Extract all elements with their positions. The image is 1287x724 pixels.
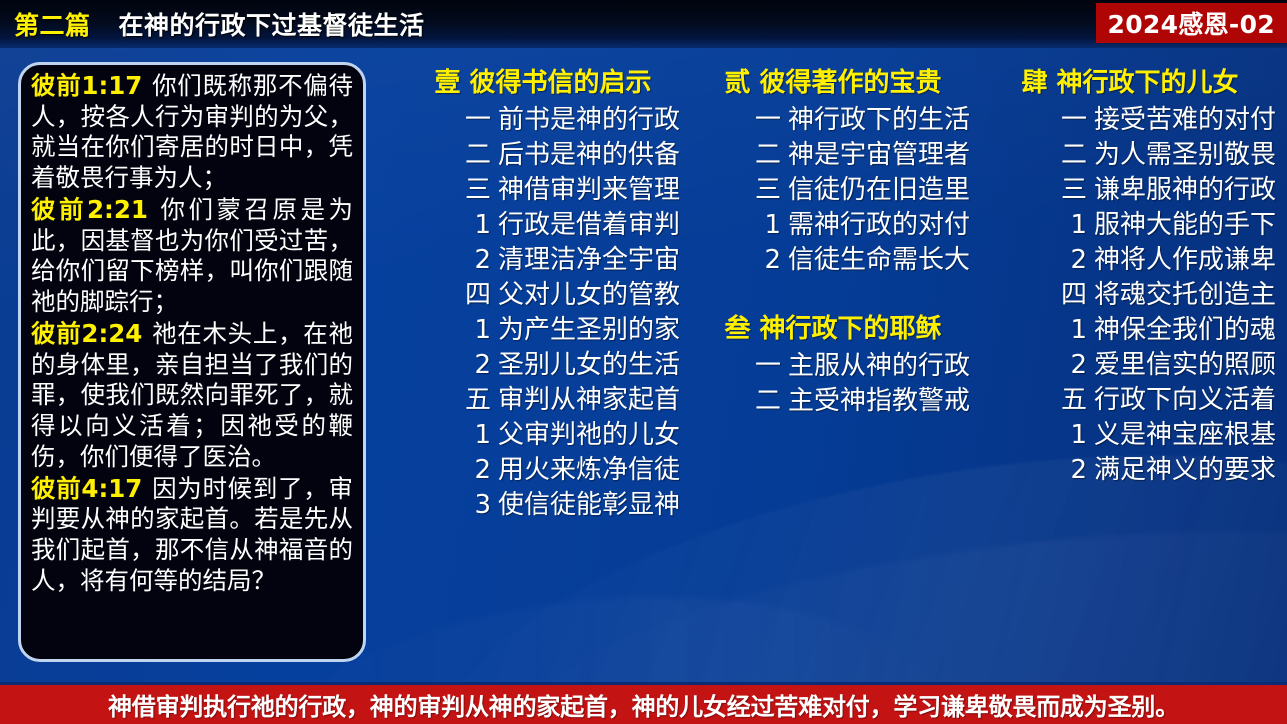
outline-item-label: 满足神义的要求 (1094, 455, 1276, 485)
outline-item: 一接受苦难的对付 (980, 103, 1280, 138)
verse-reference: 彼前2:21 (31, 195, 148, 224)
outline-item-label: 为产生圣别的家 (498, 315, 680, 345)
outline-item: 1父审判祂的儿女 (398, 418, 688, 453)
verse-block: 彼前2:24祂在木头上，在祂的身体里，亲自担当了我们的罪，使我们既然向罪死了，就… (31, 319, 353, 473)
section-heading: 贰 彼得著作的宝贵 (688, 62, 978, 99)
outline-item-number: 二 (755, 140, 781, 170)
outline-item-label: 用火来炼净信徒 (498, 455, 680, 485)
outline-item-label: 父审判祂的儿女 (498, 420, 680, 450)
outline-item-number: 四 (1061, 280, 1087, 310)
outline-item-label: 需神行政的对付 (788, 210, 970, 240)
outline-item-label: 前书是神的行政 (498, 105, 680, 135)
outline-item-label: 行政下向义活着 (1094, 385, 1276, 415)
outline-item-label: 神借审判来管理 (498, 175, 680, 205)
outline-item: 五行政下向义活着 (980, 383, 1280, 418)
outline-item-number: 二 (1061, 140, 1087, 170)
outline-item: 2用火来炼净信徒 (398, 453, 688, 488)
footer-banner: 神借审判执行祂的行政，神的审判从神的家起首，神的儿女经过苦难对付，学习谦卑敬畏而… (0, 682, 1287, 724)
outline-item: 二为人需圣别敬畏 (980, 138, 1280, 173)
outline-item-number: 2 (1070, 350, 1087, 380)
outline-item-label: 主服从神的行政 (788, 351, 970, 381)
section-heading: 叁 神行政下的耶稣 (688, 308, 978, 345)
outline-item: 3使信徒能彰显神 (398, 488, 688, 523)
outline-item-number: 1 (1070, 315, 1087, 345)
outline-item: 四将魂交托创造主 (980, 278, 1280, 313)
outline-item-number: 三 (1061, 175, 1087, 205)
outline-item-number: 2 (1070, 245, 1087, 275)
outline-item: 三信徒仍在旧造里 (688, 173, 978, 208)
verse-reference: 彼前4:17 (31, 474, 142, 503)
outline-item-number: 三 (755, 175, 781, 205)
header-title: 第二篇 在神的行政下过基督徒生活 (14, 0, 425, 48)
outline-item-number: 一 (755, 351, 781, 381)
outline-item-number: 1 (764, 210, 781, 240)
outline-item-number: 五 (1061, 385, 1087, 415)
outline-item: 二神是宇宙管理者 (688, 138, 978, 173)
outline-item-label: 谦卑服神的行政 (1094, 175, 1276, 205)
outline-item-label: 信徒仍在旧造里 (788, 175, 970, 205)
outline-item: 三谦卑服神的行政 (980, 173, 1280, 208)
outline-item: 2信徒生命需长大 (688, 243, 978, 278)
outline-item: 二主受神指教警戒 (688, 384, 978, 419)
outline-item-label: 清理洁净全宇宙 (498, 245, 680, 275)
outline-item-label: 义是神宝座根基 (1094, 420, 1276, 450)
outline-item-number: 2 (474, 350, 491, 380)
outline-item: 四父对儿女的管教 (398, 278, 688, 313)
outline-item: 2清理洁净全宇宙 (398, 243, 688, 278)
outline-item: 1为产生圣别的家 (398, 313, 688, 348)
outline-item-label: 审判从神家起首 (498, 385, 680, 415)
outline-item: 二后书是神的供备 (398, 138, 688, 173)
outline-item-number: 一 (755, 105, 781, 135)
outline-item-label: 爱里信实的照顾 (1094, 350, 1276, 380)
outline-item-number: 1 (474, 210, 491, 240)
outline-item-number: 1 (474, 315, 491, 345)
outline-item-label: 主受神指教警戒 (788, 386, 970, 416)
outline-item-number: 1 (1070, 420, 1087, 450)
verse-reference: 彼前2:24 (31, 319, 142, 348)
outline-item-number: 一 (1061, 105, 1087, 135)
series-badge: 2024感恩-02 (1096, 3, 1287, 43)
outline-item-number: 2 (474, 245, 491, 275)
verse-reference: 彼前1:17 (31, 71, 142, 100)
chapter-label: 第二篇 (14, 6, 91, 42)
outline-item: 一主服从神的行政 (688, 349, 978, 384)
outline-item-number: 1 (1070, 210, 1087, 240)
outline-item: 五审判从神家起首 (398, 383, 688, 418)
footer-summary-text: 神借审判执行祂的行政，神的审判从神的家起首，神的儿女经过苦难对付，学习谦卑敬畏而… (108, 687, 1179, 722)
outline-item: 1需神行政的对付 (688, 208, 978, 243)
outline-item: 1义是神宝座根基 (980, 418, 1280, 453)
outline-item: 1服神大能的手下 (980, 208, 1280, 243)
verse-block: 彼前1:17你们既称那不偏待人，按各人行为审判的为父，就当在你们寄居的时日中，凭… (31, 71, 353, 194)
outline-item-label: 神将人作成谦卑 (1094, 245, 1276, 275)
outline-item-label: 神保全我们的魂 (1094, 315, 1276, 345)
slide-canvas: 第二篇 在神的行政下过基督徒生活 2024感恩-02 彼前1:17你们既称那不偏… (0, 0, 1287, 724)
outline-item-label: 父对儿女的管教 (498, 280, 680, 310)
outline-column-2: 贰 彼得著作的宝贵一神行政下的生活二神是宇宙管理者三信徒仍在旧造里1需神行政的对… (688, 62, 978, 419)
outline-item-label: 行政是借着审判 (498, 210, 680, 240)
verse-block: 彼前2:21你们蒙召原是为此，因基督也为你们受过苦，给你们留下榜样，叫你们跟随祂… (31, 195, 353, 318)
verse-block: 彼前4:17因为时候到了，审判要从神的家起首。若是先从我们起首，那不信从神福音的… (31, 474, 353, 597)
outline-item-label: 后书是神的供备 (498, 140, 680, 170)
outline-item: 2神将人作成谦卑 (980, 243, 1280, 278)
outline-item: 一神行政下的生活 (688, 103, 978, 138)
outline-item-number: 2 (764, 245, 781, 275)
outline-item-label: 信徒生命需长大 (788, 245, 970, 275)
outline-item: 2圣别儿女的生活 (398, 348, 688, 383)
outline-column-3: 肆 神行政下的儿女一接受苦难的对付二为人需圣别敬畏三谦卑服神的行政1服神大能的手… (980, 62, 1280, 488)
outline-item-number: 1 (474, 420, 491, 450)
outline-item-label: 神行政下的生活 (788, 105, 970, 135)
section-heading: 肆 神行政下的儿女 (980, 62, 1280, 99)
outline-item-number: 二 (755, 386, 781, 416)
outline-item-label: 使信徒能彰显神 (498, 490, 680, 520)
outline-item-number: 二 (465, 140, 491, 170)
outline-item-label: 服神大能的手下 (1094, 210, 1276, 240)
outline-item: 2满足神义的要求 (980, 453, 1280, 488)
outline-item-number: 2 (474, 455, 491, 485)
outline-item-label: 将魂交托创造主 (1094, 280, 1276, 310)
outline-item: 1神保全我们的魂 (980, 313, 1280, 348)
outline-item-number: 五 (465, 385, 491, 415)
outline-item: 三神借审判来管理 (398, 173, 688, 208)
message-topic: 在神的行政下过基督徒生活 (119, 6, 425, 42)
outline-item-label: 神是宇宙管理者 (788, 140, 970, 170)
outline-column-1: 壹 彼得书信的启示一前书是神的行政二后书是神的供备三神借审判来管理1行政是借着审… (398, 62, 688, 523)
header-bar: 第二篇 在神的行政下过基督徒生活 2024感恩-02 (0, 0, 1287, 48)
outline-item-label: 接受苦难的对付 (1094, 105, 1276, 135)
verse-panel: 彼前1:17你们既称那不偏待人，按各人行为审判的为父，就当在你们寄居的时日中，凭… (18, 62, 366, 662)
outline-item: 一前书是神的行政 (398, 103, 688, 138)
outline-item-number: 3 (474, 490, 491, 520)
outline-item-number: 四 (465, 280, 491, 310)
outline-item-label: 为人需圣别敬畏 (1094, 140, 1276, 170)
outline-item-number: 2 (1070, 455, 1087, 485)
outline-item-label: 圣别儿女的生活 (498, 350, 680, 380)
outline-item: 2爱里信实的照顾 (980, 348, 1280, 383)
outline-item-number: 一 (465, 105, 491, 135)
section-heading: 壹 彼得书信的启示 (398, 62, 688, 99)
outline-item-number: 三 (465, 175, 491, 205)
outline-item: 1行政是借着审判 (398, 208, 688, 243)
